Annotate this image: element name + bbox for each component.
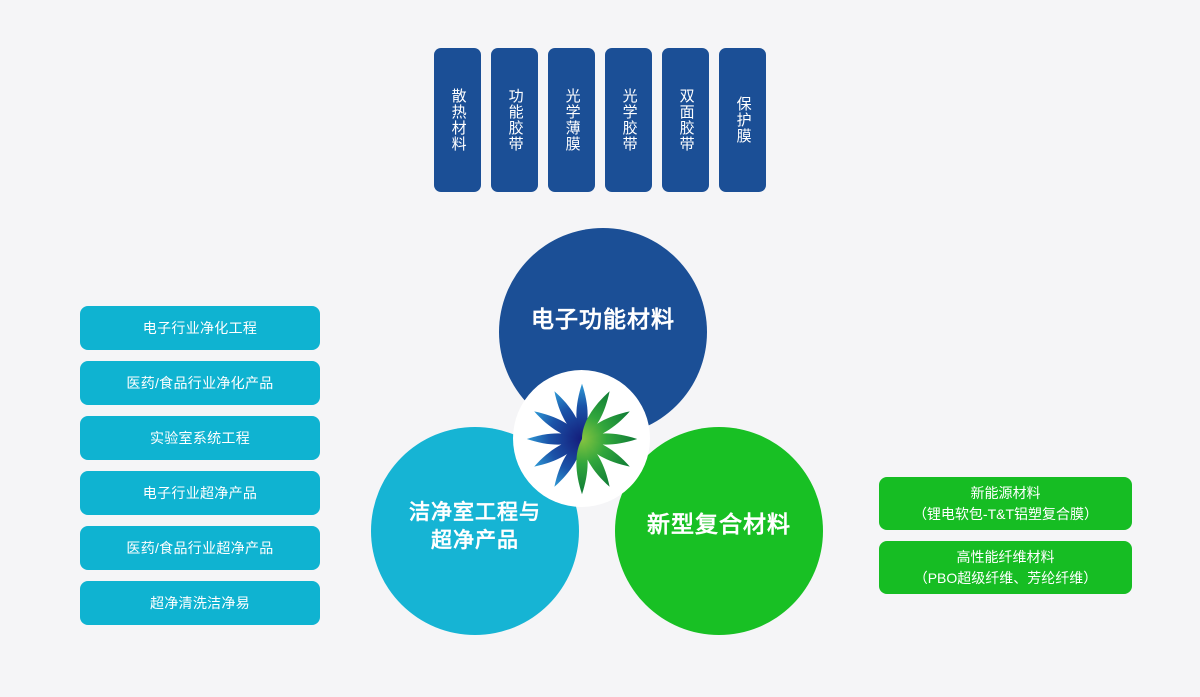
list-item-label: 医药/食品行业超净产品 xyxy=(126,538,273,558)
top-product-chip[interactable]: 光学薄膜 xyxy=(548,48,595,192)
right-material-list: 新能源材料 （锂电软包-T&T铝塑复合膜） 高性能纤维材料 （PBO超级纤维、芳… xyxy=(879,477,1132,594)
list-item-label: 实验室系统工程 xyxy=(150,428,250,448)
venn-diagram: 电子功能材料 洁净室工程与 超净产品 新型复合材料 xyxy=(368,228,838,638)
top-product-chip[interactable]: 功能胶带 xyxy=(491,48,538,192)
list-item-label: 超净清洗洁净易 xyxy=(150,593,250,613)
list-item-title: 高性能纤维材料 xyxy=(957,547,1055,568)
list-item-subtitle: （锂电软包-T&T铝塑复合膜） xyxy=(913,504,1098,525)
list-item-subtitle: （PBO超级纤维、芳纶纤维） xyxy=(914,568,1098,589)
list-item[interactable]: 新能源材料 （锂电软包-T&T铝塑复合膜） xyxy=(879,477,1132,530)
list-item[interactable]: 超净清洗洁净易 xyxy=(80,581,320,625)
top-product-chip-label: 功能胶带 xyxy=(504,88,524,152)
list-item[interactable]: 电子行业净化工程 xyxy=(80,306,320,350)
venn-circle-left-label: 洁净室工程与 超净产品 xyxy=(409,499,541,556)
top-product-chip[interactable]: 保护膜 xyxy=(719,48,766,192)
list-item[interactable]: 电子行业超净产品 xyxy=(80,471,320,515)
list-item-label: 电子行业超净产品 xyxy=(143,483,257,503)
list-item-label: 电子行业净化工程 xyxy=(143,318,257,338)
top-product-chip-label: 光学薄膜 xyxy=(561,88,581,152)
top-product-chip-label: 双面胶带 xyxy=(675,88,695,152)
list-item[interactable]: 实验室系统工程 xyxy=(80,416,320,460)
list-item-label: 医药/食品行业净化产品 xyxy=(126,373,273,393)
top-product-chip-label: 光学胶带 xyxy=(618,88,638,152)
top-product-chip[interactable]: 双面胶带 xyxy=(662,48,709,192)
flower-logo xyxy=(522,379,642,499)
venn-circle-left-line1: 洁净室工程与 xyxy=(409,501,541,524)
venn-circle-right-label: 新型复合材料 xyxy=(647,505,791,539)
list-item[interactable]: 高性能纤维材料 （PBO超级纤维、芳纶纤维） xyxy=(879,541,1132,594)
left-service-list: 电子行业净化工程 医药/食品行业净化产品 实验室系统工程 电子行业超净产品 医药… xyxy=(80,306,320,625)
top-product-chip[interactable]: 散热材料 xyxy=(434,48,481,192)
top-product-chip-group: 散热材料 功能胶带 光学薄膜 光学胶带 双面胶带 保护膜 xyxy=(434,48,766,192)
top-product-chip-label: 散热材料 xyxy=(447,88,467,152)
venn-circle-left-line2: 超净产品 xyxy=(431,529,519,552)
top-product-chip-label: 保护膜 xyxy=(732,96,752,144)
list-item[interactable]: 医药/食品行业净化产品 xyxy=(80,361,320,405)
venn-circle-top-label: 电子功能材料 xyxy=(531,300,675,334)
top-product-chip[interactable]: 光学胶带 xyxy=(605,48,652,192)
list-item-title: 新能源材料 xyxy=(971,483,1041,504)
diagram-canvas: 散热材料 功能胶带 光学薄膜 光学胶带 双面胶带 保护膜 电子行业净化工程 医药… xyxy=(0,0,1200,697)
center-logo-disc xyxy=(513,370,650,507)
list-item[interactable]: 医药/食品行业超净产品 xyxy=(80,526,320,570)
